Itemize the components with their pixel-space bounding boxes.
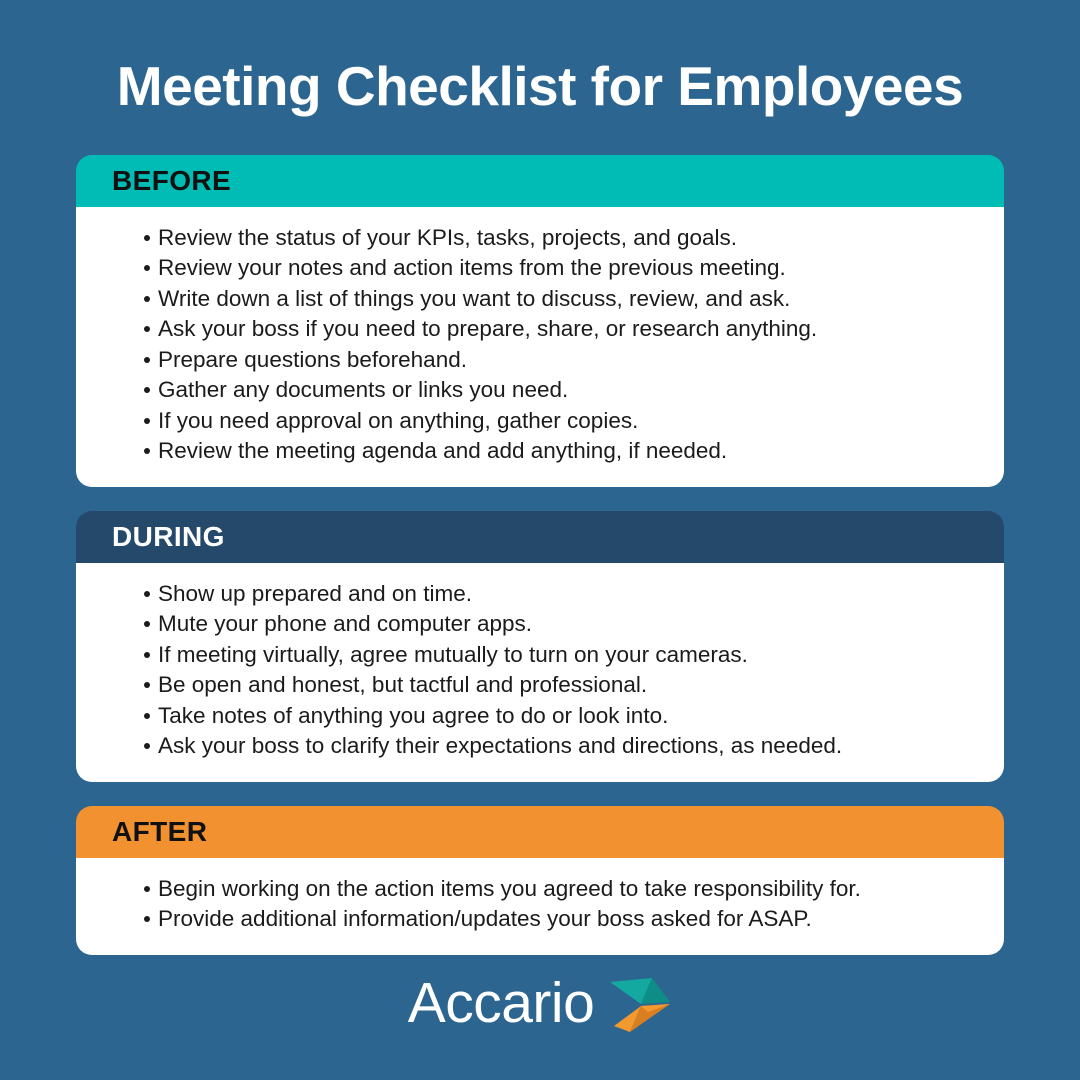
list-item: Write down a list of things you want to … bbox=[144, 284, 964, 313]
list-item: If meeting virtually, agree mutually to … bbox=[144, 640, 964, 669]
list-item: Mute your phone and computer apps. bbox=[144, 609, 964, 638]
section-card-before: BEFORE Review the status of your KPIs, t… bbox=[76, 155, 1004, 487]
section-body-during: Show up prepared and on time. Mute your … bbox=[76, 563, 1004, 782]
list-item: Gather any documents or links you need. bbox=[144, 375, 964, 404]
section-header-during: DURING bbox=[76, 511, 1004, 563]
list-item: Ask your boss to clarify their expectati… bbox=[144, 731, 964, 760]
list-item: Review the status of your KPIs, tasks, p… bbox=[144, 223, 964, 252]
checklist-sections: BEFORE Review the status of your KPIs, t… bbox=[76, 155, 1004, 955]
section-card-after: AFTER Begin working on the action items … bbox=[76, 806, 1004, 955]
arrow-logo-icon bbox=[608, 974, 672, 1036]
section-header-after: AFTER bbox=[76, 806, 1004, 858]
section-label-after: AFTER bbox=[112, 818, 207, 846]
brand-name: Accario bbox=[408, 975, 595, 1032]
section-header-before: BEFORE bbox=[76, 155, 1004, 207]
list-item: Take notes of anything you agree to do o… bbox=[144, 701, 964, 730]
poster: Meeting Checklist for Employees BEFORE R… bbox=[0, 0, 1080, 1080]
page-title: Meeting Checklist for Employees bbox=[117, 0, 963, 117]
list-item: Begin working on the action items you ag… bbox=[144, 874, 964, 903]
checklist-before: Review the status of your KPIs, tasks, p… bbox=[116, 223, 964, 466]
section-body-before: Review the status of your KPIs, tasks, p… bbox=[76, 207, 1004, 487]
section-card-during: DURING Show up prepared and on time. Mut… bbox=[76, 511, 1004, 782]
list-item: Provide additional information/updates y… bbox=[144, 904, 964, 933]
list-item: Show up prepared and on time. bbox=[144, 579, 964, 608]
section-label-before: BEFORE bbox=[112, 167, 231, 195]
list-item: Prepare questions beforehand. bbox=[144, 345, 964, 374]
section-body-after: Begin working on the action items you ag… bbox=[76, 858, 1004, 955]
checklist-after: Begin working on the action items you ag… bbox=[116, 874, 964, 934]
list-item: Ask your boss if you need to prepare, sh… bbox=[144, 314, 964, 343]
list-item: Be open and honest, but tactful and prof… bbox=[144, 670, 964, 699]
list-item: If you need approval on anything, gather… bbox=[144, 406, 964, 435]
list-item: Review your notes and action items from … bbox=[144, 253, 964, 282]
list-item: Review the meeting agenda and add anythi… bbox=[144, 436, 964, 465]
brand-logo: Accario bbox=[0, 970, 1080, 1036]
checklist-during: Show up prepared and on time. Mute your … bbox=[116, 579, 964, 761]
section-label-during: DURING bbox=[112, 523, 225, 551]
